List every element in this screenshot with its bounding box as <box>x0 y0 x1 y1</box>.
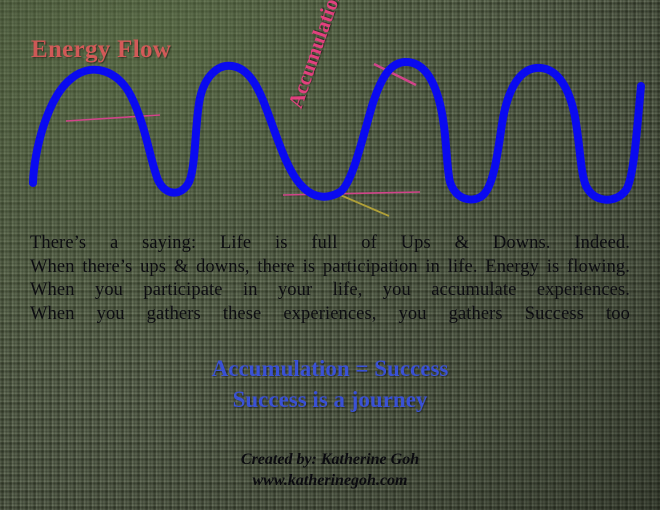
slogan-block: Accumulation = Success Success is a jour… <box>0 353 660 415</box>
credit-block: Created by: Katherine Goh www.katherineg… <box>0 449 660 491</box>
body-line-2: When there’s ups & downs, there is parti… <box>30 256 630 280</box>
slogan-line-1: Accumulation = Success <box>0 353 660 384</box>
body-line-1: There’s a saying: Life is full of Ups & … <box>30 232 630 256</box>
guide-line-left <box>66 115 160 121</box>
author-line: Created by: Katherine Goh <box>0 449 660 470</box>
energy-flow-poster: Energy Flow Accumulation Time There’s a … <box>0 0 660 510</box>
page-title: Energy Flow <box>31 36 171 64</box>
body-line-3: When you participate in your life, you a… <box>30 279 630 303</box>
slogan-line-2: Success is a journey <box>0 384 660 415</box>
website-line[interactable]: www.katherinegoh.com <box>0 470 660 491</box>
diagonal-tick-line <box>338 194 389 216</box>
body-line-4: When you gathers these experiences, you … <box>30 303 630 327</box>
body-paragraph: There’s a saying: Life is full of Ups & … <box>30 232 630 326</box>
energy-wave-path <box>33 62 641 200</box>
